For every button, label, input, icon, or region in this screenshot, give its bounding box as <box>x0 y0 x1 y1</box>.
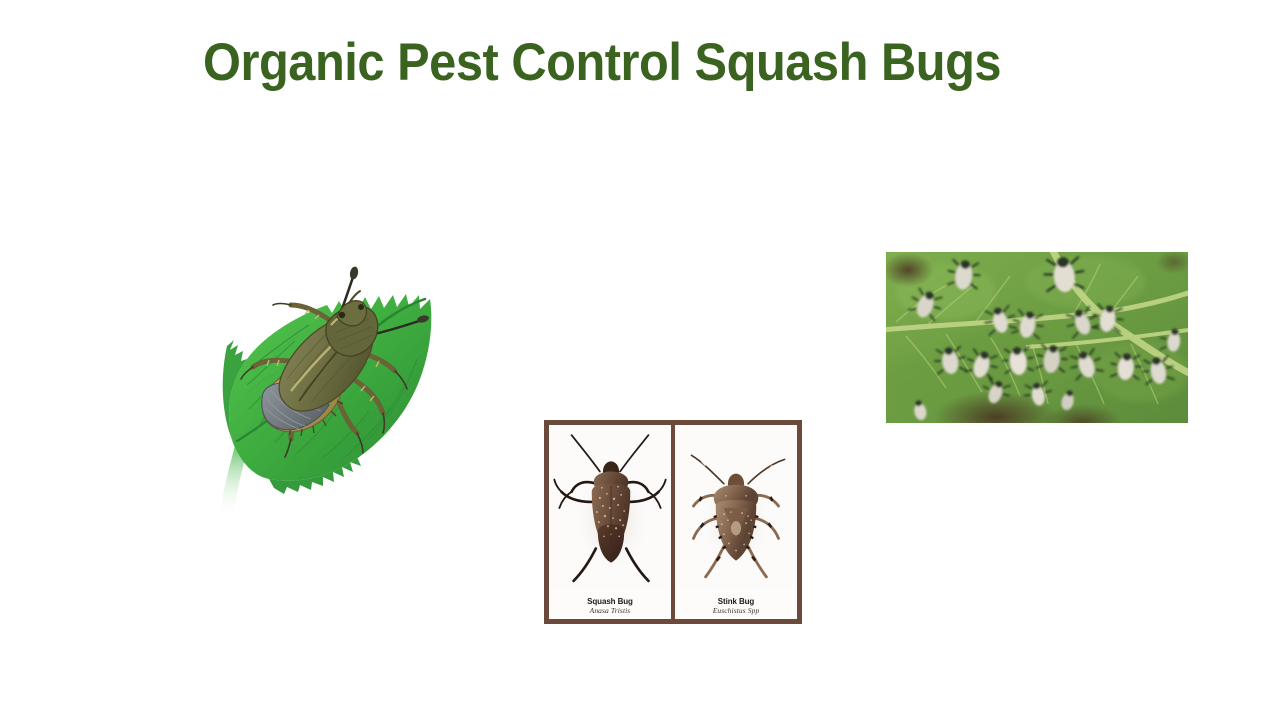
squash-bug-on-leaf-illustration <box>203 233 443 518</box>
squash-bug-specimen-photo <box>549 427 671 589</box>
page-title: Organic Pest Control Squash Bugs <box>203 33 1031 94</box>
squash-bug-vs-stink-bug-comparison: Squash Bug Anasa Tristis <box>544 420 802 624</box>
stink-bug-caption: Stink Bug Euschistus Spp <box>713 598 760 619</box>
squash-bug-caption: Squash Bug Anasa Tristis <box>587 598 633 619</box>
stink-bug-common-name: Stink Bug <box>713 598 760 606</box>
presentation-slide: Organic Pest Control Squash Bugs <box>0 0 1280 720</box>
squash-bug-common-name: Squash Bug <box>587 598 633 606</box>
stink-bug-latin-name: Euschistus Spp <box>713 607 760 615</box>
squash-bug-nymphs-on-leaf-photo <box>886 252 1188 423</box>
stink-bug-specimen-photo <box>675 427 797 589</box>
comparison-panel-squash-bug: Squash Bug Anasa Tristis <box>549 425 673 619</box>
squash-bug-latin-name: Anasa Tristis <box>587 607 633 615</box>
comparison-panel-stink-bug: Stink Bug Euschistus Spp <box>673 425 797 619</box>
